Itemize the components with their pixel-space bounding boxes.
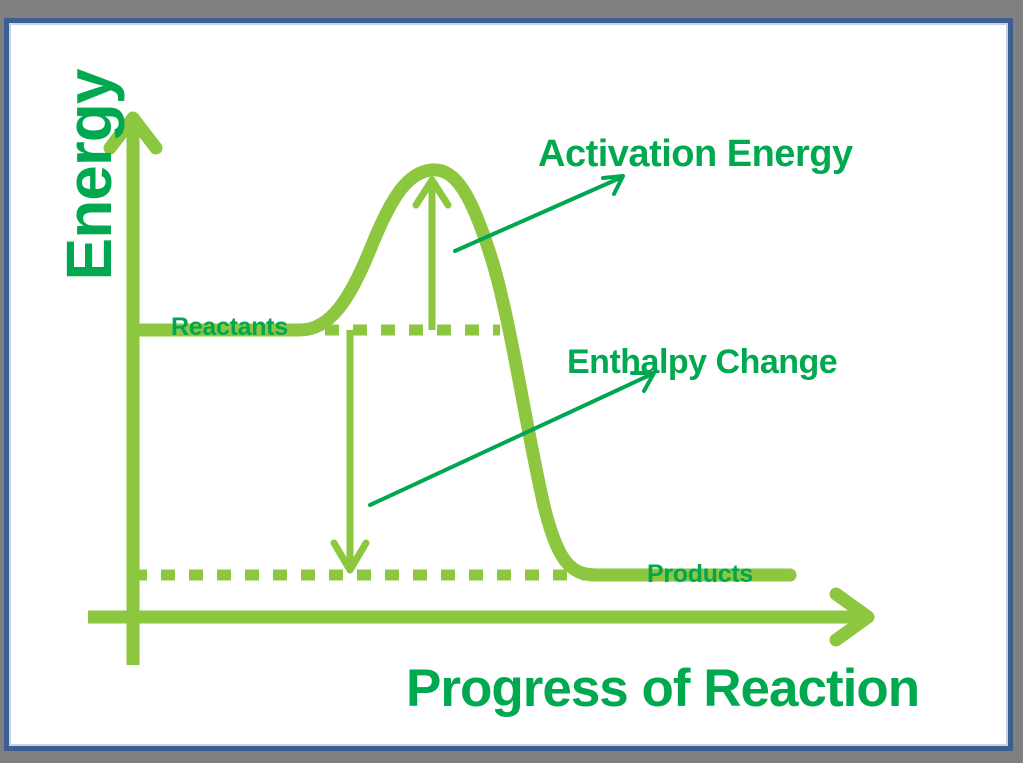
diagram-canvas: Energy Progress of Reaction Activation E…	[11, 25, 1006, 744]
figure-frame: Energy Progress of Reaction Activation E…	[0, 0, 1023, 763]
products-label: Products	[647, 562, 753, 587]
y-axis-label: Energy	[57, 45, 121, 305]
enthalpy-change-pointer-line	[370, 375, 650, 505]
activation-energy-label: Activation Energy	[538, 135, 853, 173]
enthalpy-change-arrow	[334, 330, 366, 570]
enthalpy-change-label: Enthalpy Change	[567, 345, 837, 379]
energy-profile-svg	[11, 25, 1006, 744]
activation-energy-arrow	[416, 180, 448, 330]
reactants-label: Reactants	[171, 315, 288, 340]
x-axis-label: Progress of Reaction	[406, 662, 919, 715]
